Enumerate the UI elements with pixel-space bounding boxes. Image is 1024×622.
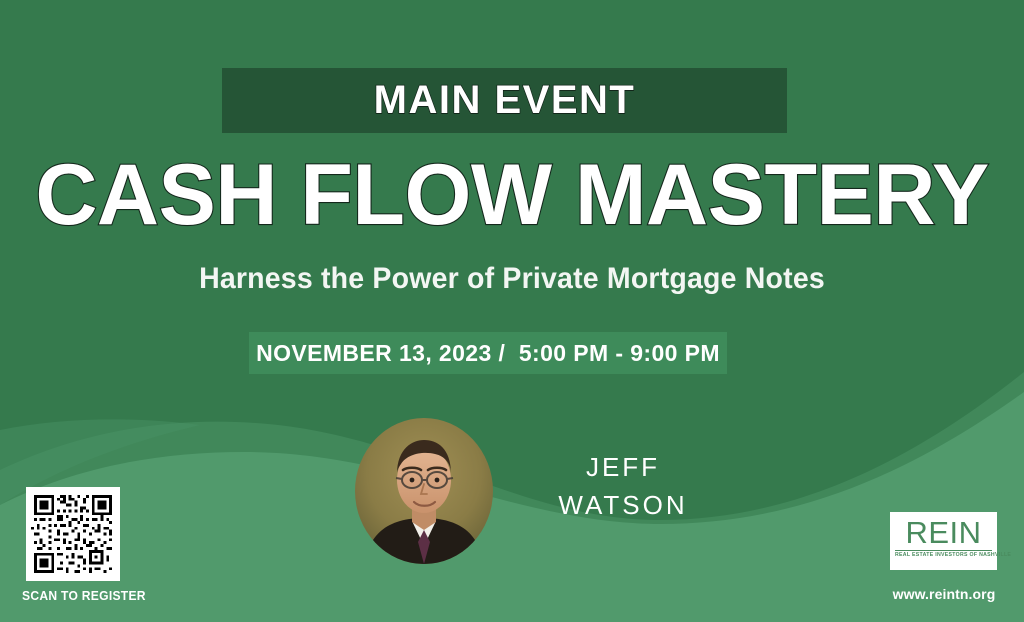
speaker-last-name: WATSON — [508, 486, 738, 524]
speaker-first-name: JEFF — [508, 448, 738, 486]
main-event-label: MAIN EVENT — [222, 68, 787, 133]
rein-logo-word: REIN — [895, 516, 992, 549]
event-flyer: MAIN EVENT CASH FLOW MASTERY Harness the… — [0, 0, 1024, 622]
rein-logo: REIN REAL ESTATE INVESTORS OF NASHVILLE — [890, 512, 997, 570]
rein-logo-rule — [895, 550, 992, 551]
qr-code[interactable] — [26, 487, 120, 581]
rein-logo-tagline: REAL ESTATE INVESTORS OF NASHVILLE — [895, 552, 992, 558]
avatar-photo-icon — [355, 418, 493, 564]
website-url[interactable]: www.reintn.org — [884, 586, 1004, 602]
page-title: CASH FLOW MASTERY — [0, 152, 1024, 238]
date-time-label: NOVEMBER 13, 2023 / 5:00 PM - 9:00 PM — [249, 332, 727, 374]
page-subtitle: Harness the Power of Private Mortgage No… — [26, 262, 999, 296]
qr-code-icon — [31, 492, 115, 576]
avatar — [355, 418, 493, 564]
speaker-name: JEFF WATSON — [508, 448, 738, 524]
qr-caption: SCAN TO REGISTER — [22, 588, 146, 603]
